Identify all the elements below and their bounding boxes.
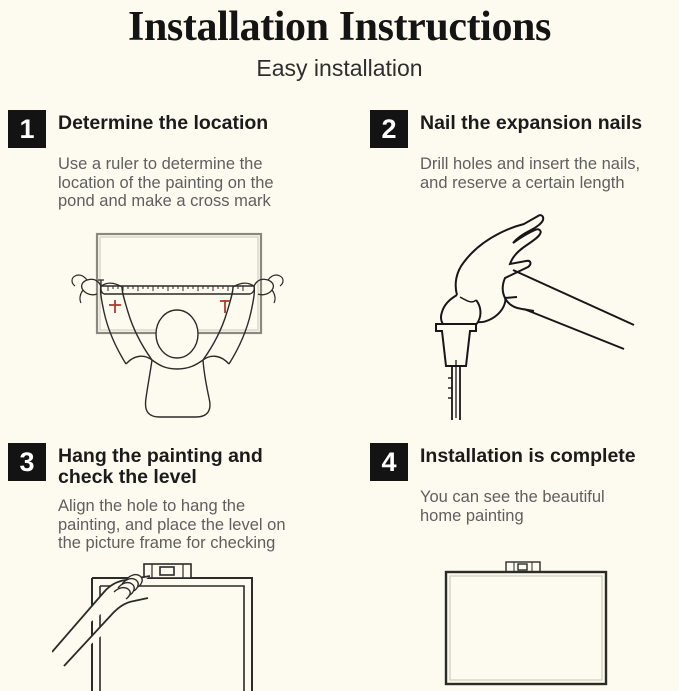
step-1: 1 Determine the location Use a ruler to … — [8, 110, 338, 211]
page-header: Installation Instructions Easy installat… — [0, 0, 679, 82]
step-4-drawing — [428, 552, 678, 691]
step-3-title: Hang the painting and check the level — [58, 443, 263, 488]
step-3-number-badge: 3 — [8, 443, 46, 481]
hammer-cheek — [478, 298, 505, 322]
step-1-number-badge: 1 — [8, 110, 46, 148]
step-1-header: 1 Determine the location — [8, 110, 338, 148]
hammer-handle-bottom — [524, 309, 624, 349]
step-2-header: 2 Nail the expansion nails — [370, 110, 675, 148]
page-title: Installation Instructions — [0, 3, 679, 51]
spirit-level-vial — [160, 567, 174, 575]
step-4-header: 4 Installation is complete — [370, 443, 675, 481]
step-3-description: Align the hole to hang the painting, and… — [58, 497, 338, 553]
person-right-finger — [272, 290, 275, 303]
person-head — [156, 310, 198, 358]
person-holding-frame-with-tape-measure-illustration — [60, 212, 340, 432]
step-4-title: Installation is complete — [420, 443, 636, 467]
step-1-drawing — [60, 212, 340, 432]
person-left-finger — [80, 290, 83, 303]
step-2-title: Nail the expansion nails — [420, 110, 642, 134]
hammer-claw — [456, 215, 544, 298]
installation-instructions-page: Installation Instructions Easy installat… — [0, 0, 679, 691]
step-4-description: You can see the beautiful home painting — [420, 488, 675, 525]
hand-and-forearm — [52, 575, 150, 666]
hung-frame-canvas — [450, 576, 602, 680]
hammer-neck — [505, 298, 534, 311]
expansion-nail — [436, 324, 476, 420]
frame-top-level — [506, 562, 540, 572]
hand-placing-spirit-level-illustration — [52, 556, 342, 691]
step-2: 2 Nail the expansion nails Drill holes a… — [370, 110, 675, 192]
hammer-handle-top — [513, 270, 634, 325]
step-3: 3 Hang the painting and check the level … — [8, 443, 338, 553]
step-3-drawing — [52, 556, 342, 691]
step-3-header: 3 Hang the painting and check the level — [8, 443, 338, 488]
step-2-number-badge: 2 — [370, 110, 408, 148]
spirit-level — [144, 564, 191, 578]
step-1-title: Determine the location — [58, 110, 268, 134]
page-subtitle: Easy installation — [0, 54, 679, 82]
frame-level-vial — [518, 564, 527, 570]
hung-picture-frame-illustration — [428, 552, 678, 691]
step-2-drawing — [404, 200, 679, 430]
step-4-number-badge: 4 — [370, 443, 408, 481]
anchor-plug — [436, 324, 476, 366]
frame-inner-top-right — [100, 586, 244, 691]
claw-hammer-and-expansion-nail-illustration — [404, 200, 679, 430]
step-1-description: Use a ruler to determine the location of… — [58, 155, 338, 211]
step-4: 4 Installation is complete You can see t… — [370, 443, 675, 525]
step-2-description: Drill holes and insert the nails, and re… — [420, 155, 675, 192]
